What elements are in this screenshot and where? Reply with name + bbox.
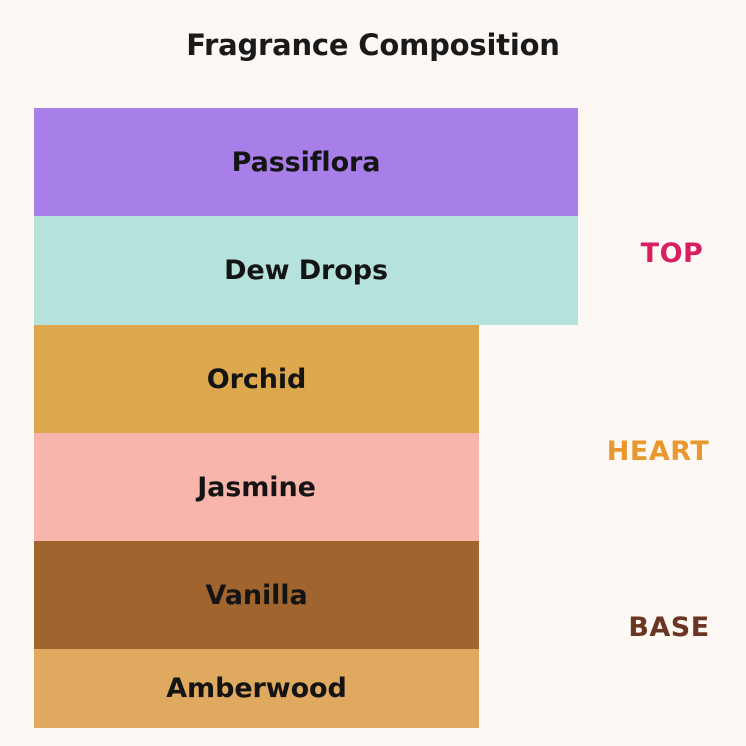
note-bar-passiflora[interactable]: Passiflora	[34, 108, 578, 216]
tier-label-heart: HEART	[584, 436, 732, 467]
chart-canvas: Fragrance Composition Passiflora Dew Dro…	[0, 0, 746, 746]
note-bar-jasmine[interactable]: Jasmine	[34, 433, 479, 541]
tier-label-base: BASE	[595, 612, 743, 643]
note-bar-label: Orchid	[207, 364, 306, 395]
tier-label-top: TOP	[598, 238, 746, 269]
note-bar-label: Passiflora	[232, 147, 381, 178]
note-bar-label: Jasmine	[197, 472, 316, 503]
note-bar-amberwood[interactable]: Amberwood	[34, 649, 479, 728]
note-bar-label: Dew Drops	[224, 255, 388, 286]
note-bar-label: Vanilla	[205, 580, 307, 611]
note-bar-dew-drops[interactable]: Dew Drops	[34, 216, 578, 325]
chart-title: Fragrance Composition	[0, 28, 746, 62]
note-bar-vanilla[interactable]: Vanilla	[34, 541, 479, 649]
note-bar-label: Amberwood	[166, 673, 346, 704]
note-bar-orchid[interactable]: Orchid	[34, 325, 479, 433]
